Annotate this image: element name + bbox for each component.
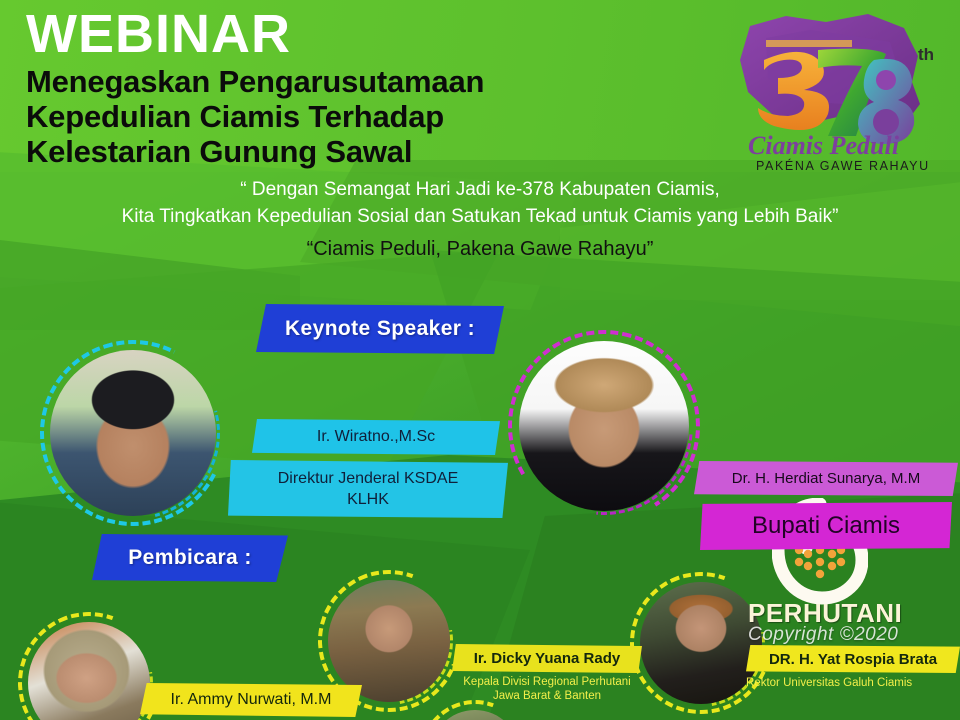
speaker-title-herdiat: Bupati Ciamis [700, 502, 952, 550]
svg-text:th: th [918, 45, 934, 64]
portrait-herdiat [508, 330, 700, 522]
portrait-photo [328, 580, 450, 702]
quote-line-2: Kita Tingkatkan Kepedulian Sosial dan Sa… [0, 203, 960, 230]
webinar-label: WEBINAR [26, 6, 484, 62]
svg-text:Ciamis Peduli: Ciamis Peduli [748, 131, 900, 160]
pembicara-label: Pembicara : [92, 534, 288, 582]
quote-line-1: “ Dengan Semangat Hari Jadi ke-378 Kabup… [0, 176, 960, 203]
portrait-image [640, 582, 762, 704]
poster-header: WEBINAR Menegaskan Pengarusutamaan Keped… [26, 6, 484, 169]
speaker-title-wiratno: Direktur Jenderal KSDAE KLHK [228, 460, 508, 518]
speaker-subtitle-dicky-line1: Kepala Divisi Regional Perhutani [438, 675, 656, 689]
webinar-poster: WEBINAR Menegaskan Pengarusutamaan Keped… [0, 0, 960, 720]
speaker-name-dicky: Ir. Dicky Yuana Rady [452, 644, 642, 673]
title-line-1: Menegaskan Pengarusutamaan [26, 64, 484, 99]
portrait-wiratno [40, 340, 226, 526]
speaker-title-wiratno-line1: Direktur Jenderal KSDAE [278, 470, 459, 487]
svg-text:PAKÉNA GAWE RAHAYU: PAKÉNA GAWE RAHAYU [756, 158, 930, 173]
portrait-image [430, 710, 520, 720]
keynote-speaker-label: Keynote Speaker : [256, 304, 504, 354]
portrait-ammy [18, 612, 160, 720]
portrait-image [328, 580, 450, 702]
title-line-3: Kelestarian Gunung Sawal [26, 134, 484, 169]
speaker-name-ammy: Ir. Ammy Nurwati, M.M [140, 683, 362, 717]
ciamis-anniversary-logo: th Ciamis Peduli PAKÉNA GAWE RAHAYU [722, 8, 944, 176]
speaker-subtitle-yat: Rektor Universitas Galuh Ciamis [746, 676, 960, 690]
speaker-subtitle-dicky-line2: Jawa Barat & Banten [438, 689, 656, 703]
portrait-photo [28, 622, 150, 720]
copyright-watermark: Copyright ©2020 [748, 624, 898, 646]
logo-artwork: th Ciamis Peduli PAKÉNA GAWE RAHAYU [722, 8, 944, 176]
poster-quote: “ Dengan Semangat Hari Jadi ke-378 Kabup… [0, 176, 960, 263]
speaker-name-herdiat: Dr. H. Herdiat Sunarya, M.M [694, 461, 958, 496]
portrait-photo [430, 710, 520, 720]
portrait-photo [519, 341, 689, 511]
portrait-image [28, 622, 150, 720]
speaker-name-wiratno: Ir. Wiratno.,M.Sc [252, 419, 500, 455]
speaker-title-wiratno-line2: KLHK [347, 491, 389, 508]
title-line-2: Kepedulian Ciamis Terhadap [26, 99, 484, 134]
speaker-subtitle-dicky: Kepala Divisi Regional Perhutani Jawa Ba… [438, 675, 656, 703]
poster-title: Menegaskan Pengarusutamaan Kepedulian Ci… [26, 64, 484, 169]
quote-line-3: “Ciamis Peduli, Pakena Gawe Rahayu” [0, 236, 960, 263]
portrait-photo [50, 350, 216, 516]
speaker-name-yat: DR. H. Yat Rospia Brata [746, 645, 960, 673]
portrait-photo [640, 582, 762, 704]
portrait-image [519, 341, 689, 511]
portrait-image [50, 350, 216, 516]
